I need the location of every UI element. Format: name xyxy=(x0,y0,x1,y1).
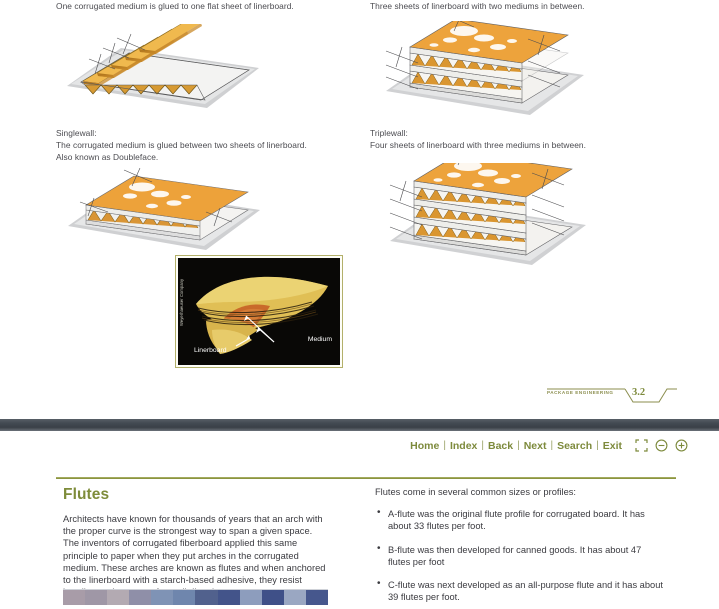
document-page: One corrugated medium is glued to one fl… xyxy=(0,0,719,419)
strip-swatch xyxy=(218,590,240,605)
nav-home[interactable]: Home xyxy=(406,440,443,452)
nav-index[interactable]: Index xyxy=(446,440,481,452)
strip-swatch xyxy=(306,590,328,605)
page-footer-badge: PACKAGE ENGINEERING 3.2 xyxy=(547,386,677,406)
zoom-out-icon[interactable] xyxy=(655,439,668,452)
singlewall-line2: Also known as Doubleface. xyxy=(56,152,356,164)
panel-singleface: One corrugated medium is glued to one fl… xyxy=(56,0,356,114)
list-item: A-flute was the original flute profile f… xyxy=(375,508,665,532)
singlewall-corrugated-illustration xyxy=(64,168,274,258)
caption-triplewall: Triplewall: Four sheets of linerboard wi… xyxy=(370,128,670,152)
viewer-navbar: Home | Index | Back | Next | Search | Ex… xyxy=(406,439,688,452)
linerboard-medium-photo-inset: Weyerhaeuser Company Linerboard Medium xyxy=(175,255,343,368)
doublewall-corrugated-illustration xyxy=(376,21,670,121)
list-item: B-flute was then developed for canned go… xyxy=(375,544,665,568)
viewer-icon-group xyxy=(635,439,688,452)
reader-page: One corrugated medium is glued to one fl… xyxy=(0,0,719,609)
nav-search[interactable]: Search xyxy=(553,440,596,452)
caption-singlewall: Singlewall: The corrugated medium is glu… xyxy=(56,128,356,163)
flute-profile-list: A-flute was the original flute profile f… xyxy=(375,508,665,603)
triplewall-line1: Four sheets of linerboard with three med… xyxy=(370,140,670,152)
flutes-paragraph: Architects have known for thousands of y… xyxy=(63,513,328,598)
triplewall-title: Triplewall: xyxy=(370,128,670,140)
singlewall-line1: The corrugated medium is glued between t… xyxy=(56,140,356,152)
flutes-left-column: Flutes Architects have known for thousan… xyxy=(63,486,328,598)
list-item: C-flute was next developed as an all-pur… xyxy=(375,579,665,603)
strip-swatch xyxy=(129,590,151,605)
nav-back[interactable]: Back xyxy=(484,440,517,452)
photo-credit: Weyerhaeuser Company xyxy=(179,264,184,326)
inset-label-medium: Medium xyxy=(308,336,332,343)
flute-profile-image-strip xyxy=(63,589,328,605)
single-face-corrugated-illustration xyxy=(59,24,356,114)
strip-swatch xyxy=(63,590,85,605)
page-separator-band xyxy=(0,419,719,431)
zoom-in-icon[interactable] xyxy=(675,439,688,452)
panel-doublewall: Three sheets of linerboard with two medi… xyxy=(370,0,670,121)
strip-swatches xyxy=(63,590,328,605)
viewer-page: Home | Index | Back | Next | Search | Ex… xyxy=(0,431,719,609)
nav-next[interactable]: Next xyxy=(520,440,551,452)
flutes-right-column: Flutes come in several common sizes or p… xyxy=(375,486,665,609)
strip-swatch xyxy=(262,590,284,605)
badge-page-number: 3.2 xyxy=(632,387,645,398)
singlewall-title: Singlewall: xyxy=(56,128,356,140)
inset-photo: Weyerhaeuser Company Linerboard Medium xyxy=(178,258,340,365)
strip-swatch xyxy=(284,590,306,605)
strip-swatch xyxy=(151,590,173,605)
fullscreen-icon[interactable] xyxy=(635,439,648,452)
section-divider-rule xyxy=(56,477,676,479)
badge-title: PACKAGE ENGINEERING xyxy=(547,390,614,395)
strip-swatch xyxy=(195,590,217,605)
strip-swatch xyxy=(107,590,129,605)
page-title: Flutes xyxy=(63,486,328,504)
inset-label-linerboard: Linerboard xyxy=(194,347,227,354)
caption-singleface-top: One corrugated medium is glued to one fl… xyxy=(56,0,356,13)
triplewall-corrugated-illustration xyxy=(376,163,606,268)
strip-swatch xyxy=(240,590,262,605)
nav-exit[interactable]: Exit xyxy=(599,440,626,452)
flutes-intro: Flutes come in several common sizes or p… xyxy=(375,486,665,498)
caption-doublewall-top: Three sheets of linerboard with two medi… xyxy=(370,0,670,13)
strip-swatch xyxy=(85,590,107,605)
strip-swatch xyxy=(173,590,195,605)
